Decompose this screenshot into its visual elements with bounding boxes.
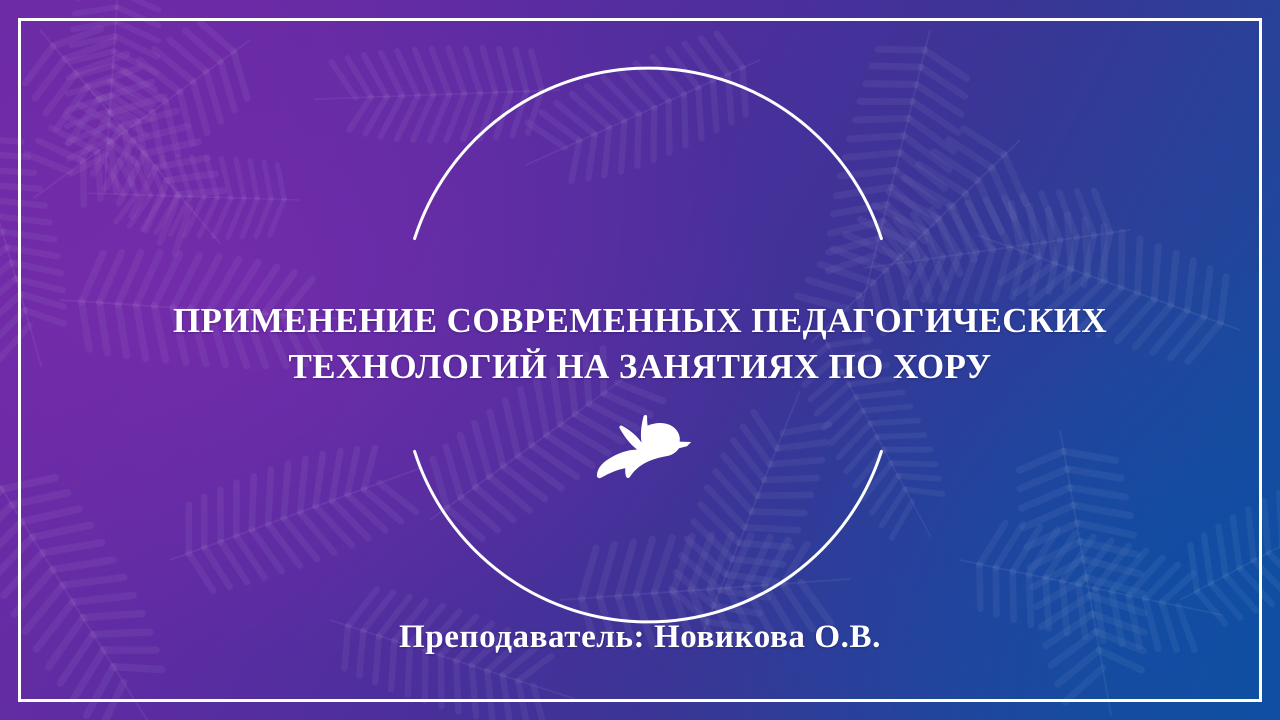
title-slide: ПРИМЕНЕНИЕ СОВРЕМЕННЫХ ПЕДАГОГИЧЕСКИХ ТЕ… (0, 0, 1280, 720)
hummingbird-icon (596, 410, 692, 486)
presenter-name: Преподаватель: Новикова О.В. (0, 619, 1280, 656)
page-title-line-2: ТЕХНОЛОГИЙ НА ЗАНЯТИЯХ ПО ХОРУ (0, 344, 1280, 390)
page-title: ПРИМЕНЕНИЕ СОВРЕМЕННЫХ ПЕДАГОГИЧЕСКИХ ТЕ… (0, 298, 1280, 390)
page-title-line-1: ПРИМЕНЕНИЕ СОВРЕМЕННЫХ ПЕДАГОГИЧЕСКИХ (0, 298, 1280, 344)
